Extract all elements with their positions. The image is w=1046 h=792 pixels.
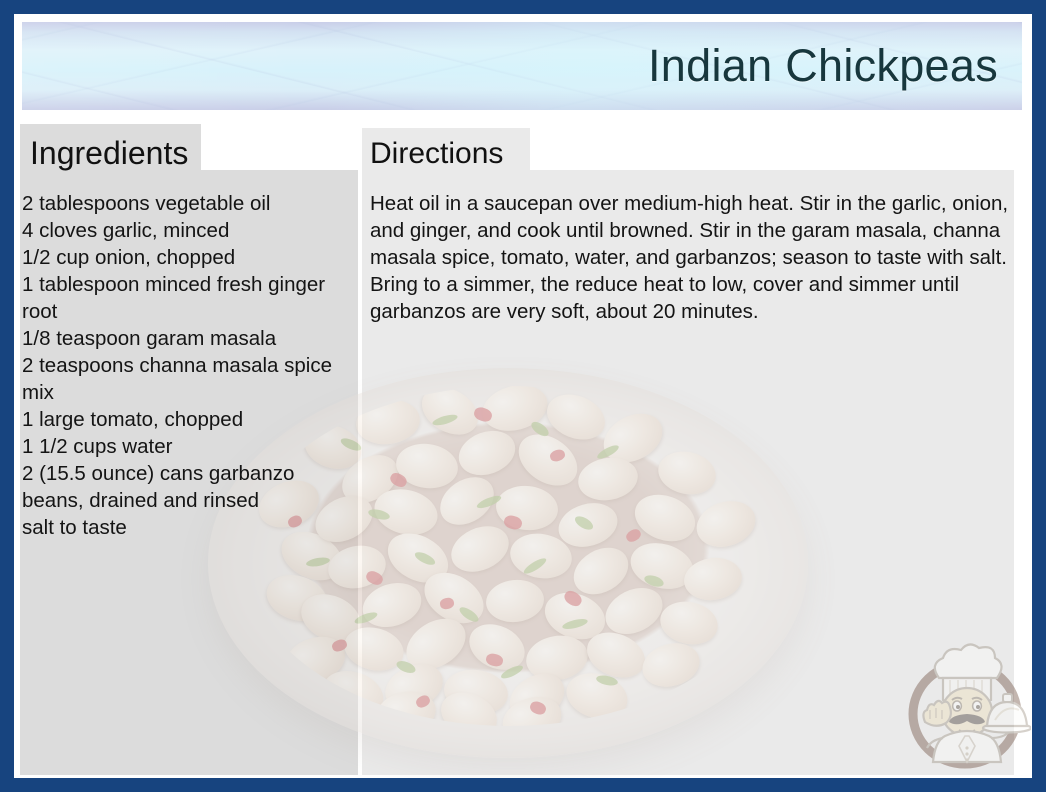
tab-ingredients-label: Ingredients [30,137,188,169]
directions-body: Heat oil in a saucepan over medium-high … [370,190,1010,325]
chef-logo-icon [903,640,1031,770]
tab-directions[interactable]: Directions [362,128,530,172]
title-banner: Indian Chickpeas [22,22,1022,110]
recipe-slide: Indian Chickpeas [0,0,1046,792]
ingredients-list: 2 tablespoons vegetable oil 4 cloves gar… [22,190,358,541]
page-title: Indian Chickpeas [648,40,998,92]
tab-directions-label: Directions [370,139,503,169]
tab-ingredients[interactable]: Ingredients [20,124,201,172]
